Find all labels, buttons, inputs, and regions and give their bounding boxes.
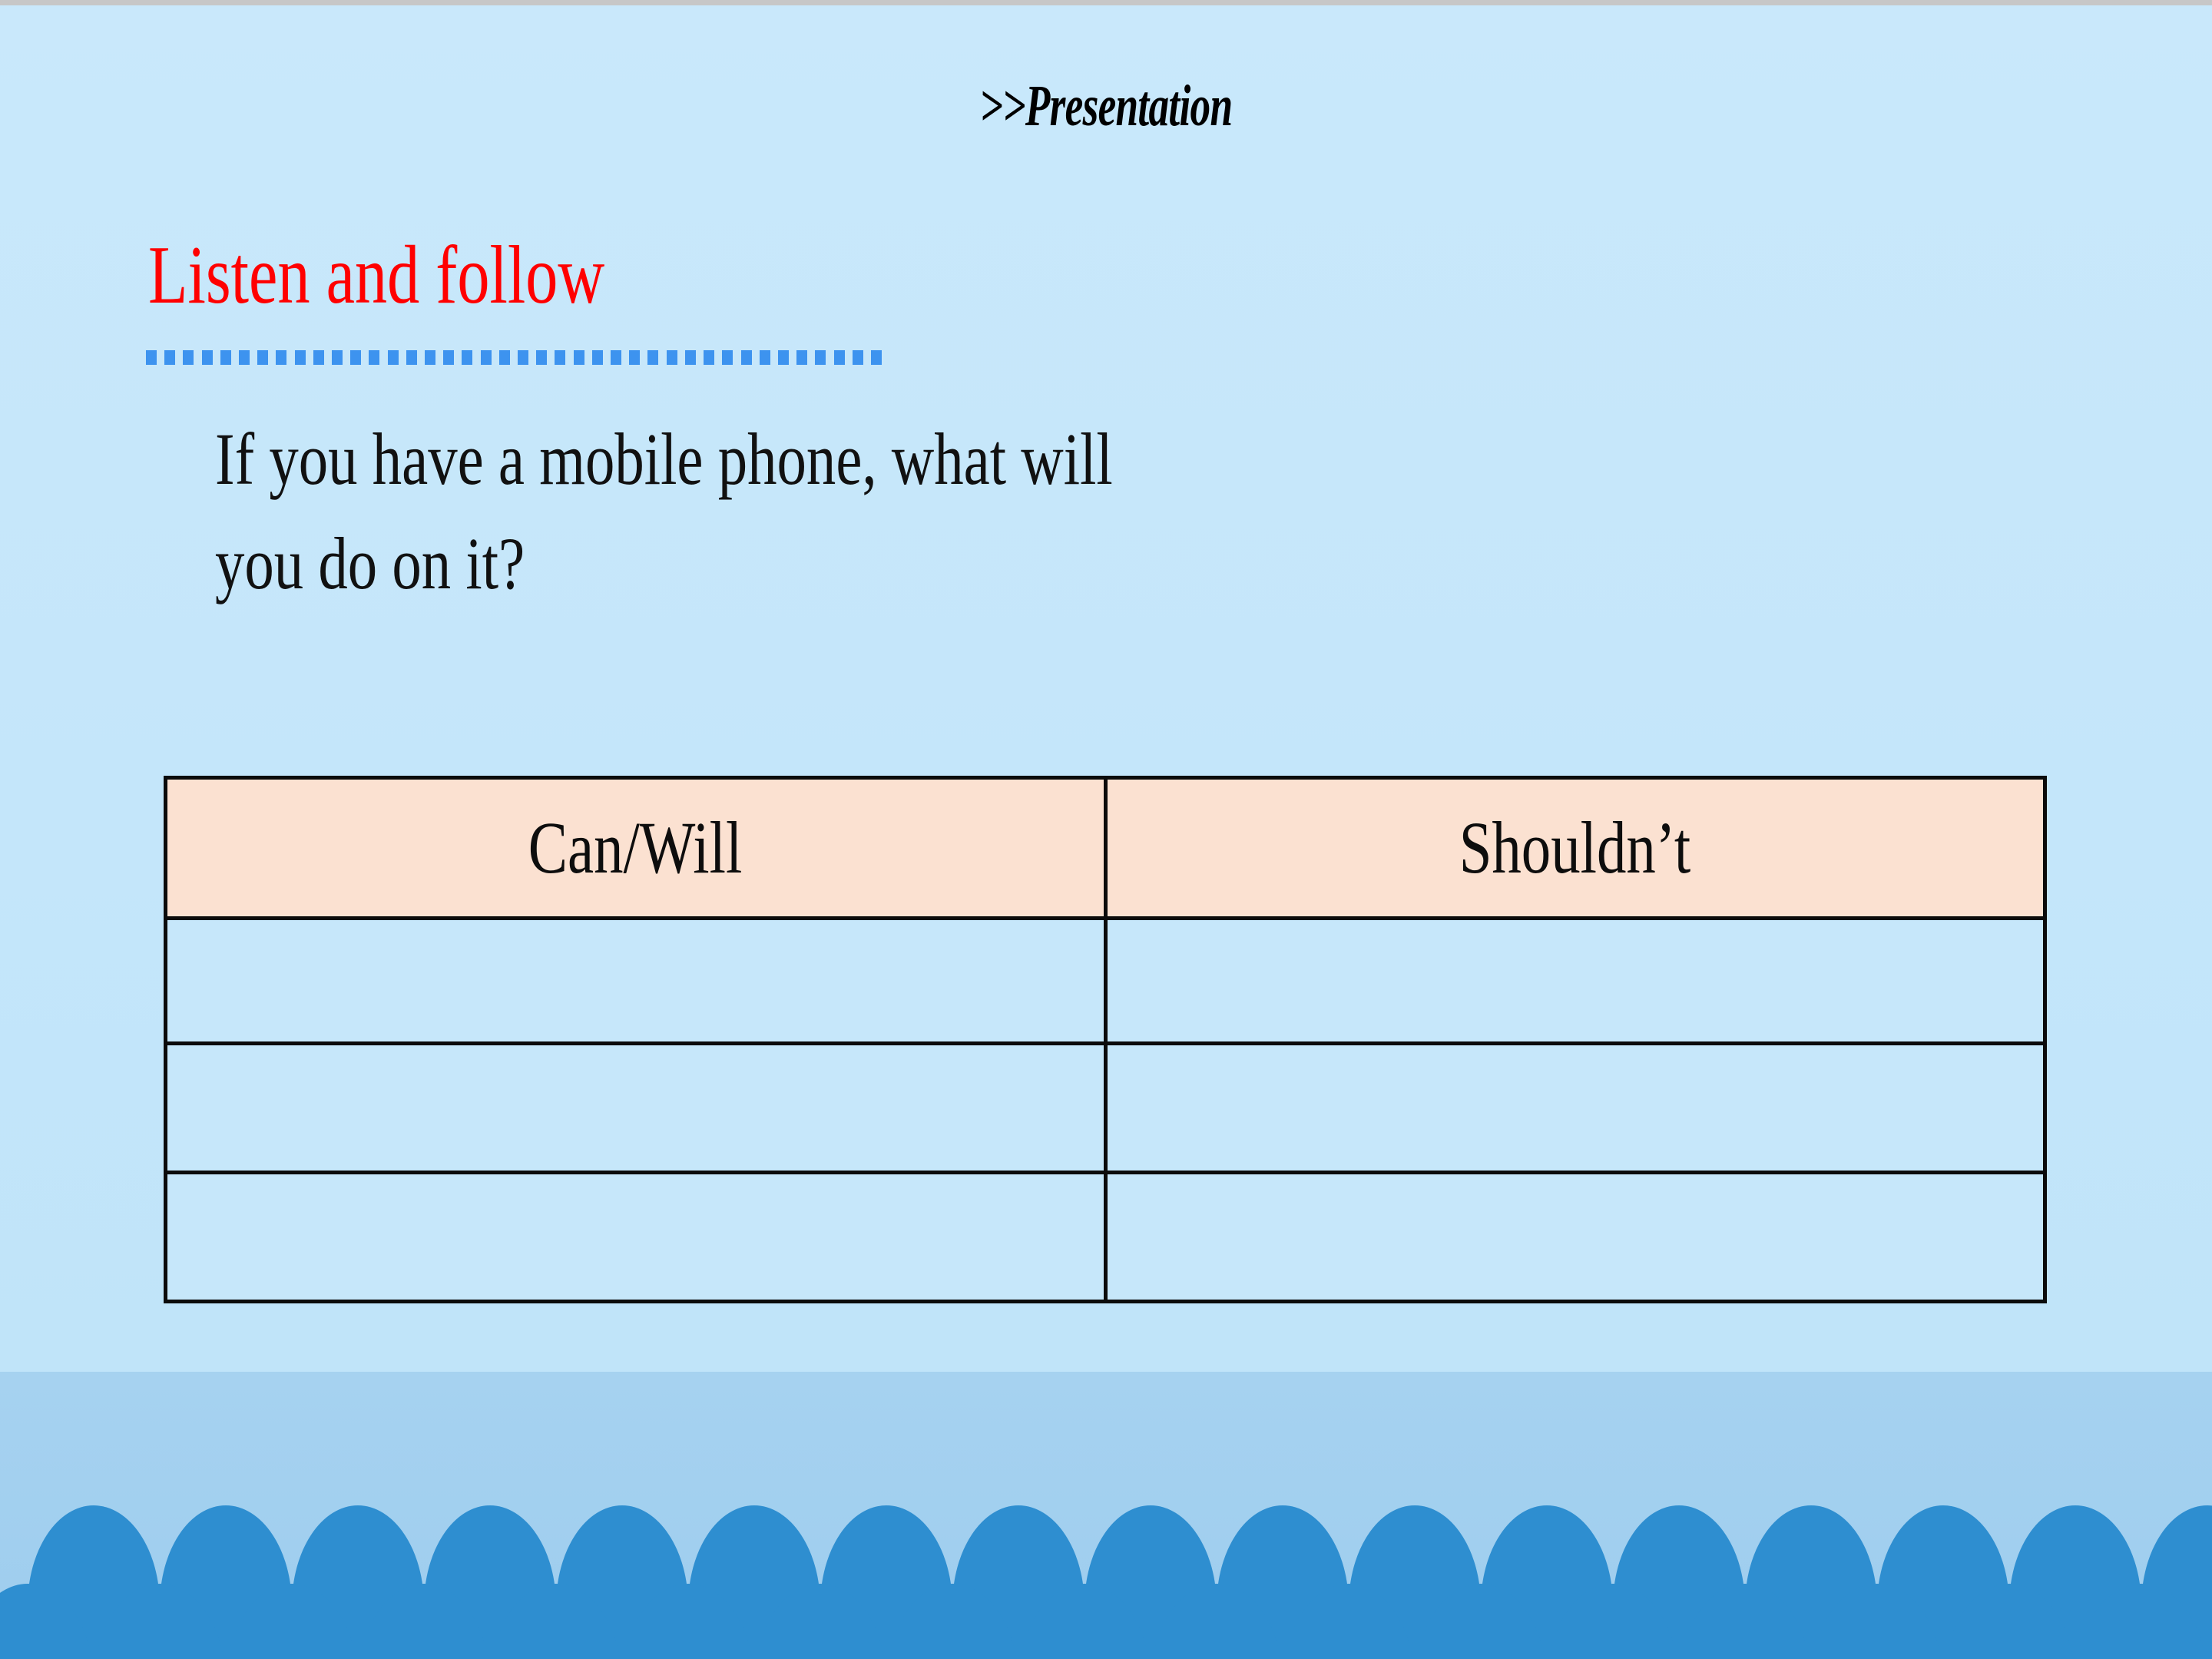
table-header-cell-shouldnt: Shouldn’t: [1105, 778, 2045, 919]
underline-dot: [313, 350, 324, 365]
underline-dot: [722, 350, 733, 365]
question-line-2: you do on it?: [215, 512, 1628, 616]
dome-shape: [1415, 1584, 1547, 1659]
underline-dot: [425, 350, 435, 365]
underline-dot: [443, 350, 454, 365]
table-cell-shouldnt[interactable]: [1105, 1173, 2045, 1302]
underline-dot: [257, 350, 268, 365]
underline-dot: [499, 350, 510, 365]
table-header-label-can-will: Can/Will: [528, 811, 742, 885]
underline-dot: [146, 350, 157, 365]
underline-dot: [611, 350, 621, 365]
dome-shape: [94, 1584, 226, 1659]
dome-shape: [886, 1584, 1018, 1659]
top-gray-bar: [0, 0, 2212, 5]
underline-dot: [202, 350, 213, 365]
section-heading: Listen and follow: [148, 234, 604, 317]
table-cell-shouldnt[interactable]: [1105, 919, 2045, 1044]
slide-background-lower: [0, 1372, 2212, 1659]
underline-dot: [518, 350, 528, 365]
underline-dot: [220, 350, 231, 365]
table-cell-can-will[interactable]: [166, 919, 1106, 1044]
underline-dot: [853, 350, 863, 365]
dome-shape: [1151, 1584, 1283, 1659]
table-header-row: Can/Will Shouldn’t: [166, 778, 2045, 919]
underline-dot: [834, 350, 845, 365]
section-heading-underline: [146, 349, 882, 365]
presentation-slide: >>Presentation Listen and follow If you …: [0, 0, 2212, 1659]
underline-dot: [629, 350, 640, 365]
underline-dot: [276, 350, 286, 365]
dome-shape: [0, 1584, 94, 1659]
table-row: [166, 1044, 2045, 1173]
dome-shape: [1811, 1584, 1943, 1659]
underline-dot: [350, 350, 361, 365]
table-header-label-shouldnt: Shouldn’t: [1459, 811, 1691, 885]
underline-dot: [295, 350, 306, 365]
underline-dot: [871, 350, 882, 365]
underline-dot: [796, 350, 807, 365]
underline-dot: [592, 350, 603, 365]
underline-dot: [164, 350, 175, 365]
underline-dot: [239, 350, 250, 365]
dome-shape: [358, 1584, 490, 1659]
underline-dot: [332, 350, 343, 365]
dome-shape: [1283, 1584, 1415, 1659]
underline-dot: [741, 350, 752, 365]
underline-dot: [183, 350, 194, 365]
answer-table-head: Can/Will Shouldn’t: [166, 778, 2045, 919]
dome-shape: [2075, 1584, 2207, 1659]
table-cell-can-will[interactable]: [166, 1044, 1106, 1173]
underline-dot: [462, 350, 472, 365]
dome-shape: [754, 1584, 886, 1659]
underline-dot: [778, 350, 789, 365]
dome-shape: [490, 1584, 622, 1659]
page-title: >>Presentation: [332, 73, 1880, 140]
underline-dot: [369, 350, 379, 365]
underline-dot: [574, 350, 584, 365]
table-header-cell-can-will: Can/Will: [166, 778, 1106, 919]
dome-shape: [226, 1584, 358, 1659]
table-cell-can-will[interactable]: [166, 1173, 1106, 1302]
question-line-1: If you have a mobile phone, what will: [215, 407, 1628, 512]
underline-dot: [760, 350, 770, 365]
dome-row-front: [0, 1584, 2212, 1659]
underline-dot: [555, 350, 565, 365]
dome-shape: [1679, 1584, 1811, 1659]
underline-dot: [406, 350, 417, 365]
dome-shape: [1018, 1584, 1151, 1659]
dome-shape: [622, 1584, 754, 1659]
underline-dot: [704, 350, 714, 365]
underline-dot: [481, 350, 492, 365]
dome-shape: [2207, 1584, 2212, 1659]
underline-dot: [536, 350, 547, 365]
answer-table-body: [166, 919, 2045, 1302]
underline-dot: [647, 350, 658, 365]
table-cell-shouldnt[interactable]: [1105, 1044, 2045, 1173]
underline-dot: [667, 350, 677, 365]
question-text: If you have a mobile phone, what will yo…: [215, 407, 1628, 617]
dome-shape: [1943, 1584, 2075, 1659]
table-row: [166, 1173, 2045, 1302]
underline-dot: [388, 350, 399, 365]
table-row: [166, 919, 2045, 1044]
underline-dot: [815, 350, 826, 365]
underline-dot: [685, 350, 696, 365]
dome-shape: [1547, 1584, 1679, 1659]
answer-table: Can/Will Shouldn’t: [164, 776, 2047, 1303]
